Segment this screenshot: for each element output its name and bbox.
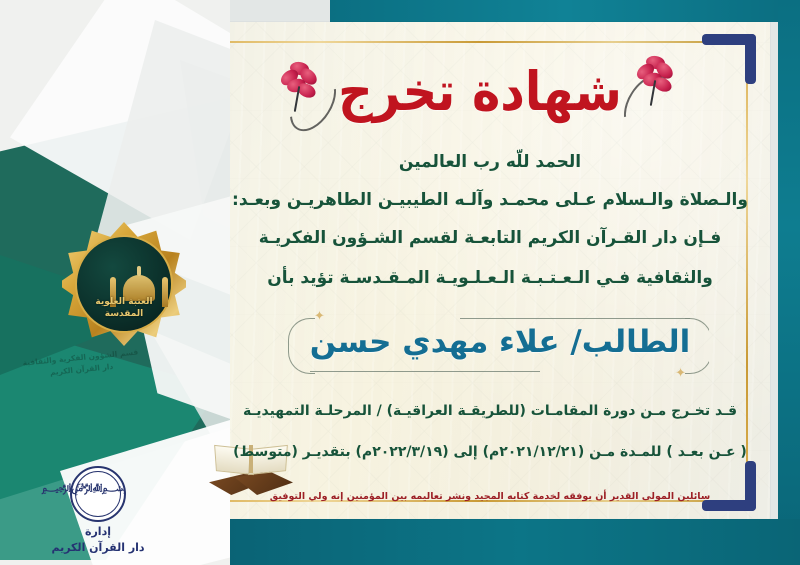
dar-al-quran-seal-icon: ﷽	[70, 466, 126, 522]
orchid-flower-right-icon	[636, 56, 678, 98]
name-frame-star-right-icon: ✦	[675, 367, 686, 380]
seal-glyph: ﷽	[70, 482, 126, 493]
seal-inner-ring	[75, 471, 121, 517]
orchid-flower-left-icon	[280, 62, 322, 104]
bottom-teal-band	[180, 519, 800, 565]
holy-alawi-shrine-emblem-icon: العتبة العلوية المقدسة	[62, 222, 186, 346]
name-frame-rule-bottom	[310, 371, 540, 372]
duration-grade-line: ( عـن بعـد ) للمـدة مـن (٢٠٢١/١٢/٢١م) إل…	[190, 444, 790, 460]
emblem-disc: العتبة العلوية المقدسة	[75, 235, 173, 333]
certificate-title-area: شهادة تخرج	[300, 58, 660, 140]
body-line-praise: الحمد للّه رب العالمين	[190, 152, 790, 172]
corner-bracket-top-right	[702, 34, 756, 84]
course-details-line: قـد تخـرج مـن دورة المقامـات (للطريقـة ا…	[190, 403, 790, 419]
administration-label-line-1: إدارة	[22, 524, 174, 540]
student-name: الطالب/ علاء مهدي حسن	[288, 324, 712, 360]
student-name-frame: ✦ ✦ الطالب/ علاء مهدي حسن	[288, 312, 712, 378]
name-frame-star-left-icon: ✦	[314, 310, 325, 323]
body-line-issuer-1: فـإن دار القـرآن الكريم التابعـة لقسم ال…	[190, 228, 790, 248]
body-line-salutation: والـصلاة والـسلام عـلى محمـد وآلـه الطيب…	[190, 190, 790, 210]
body-line-issuer-2: والثقافية فـي الـعـتـبـة الـعـلـويـة الم…	[190, 268, 790, 288]
certificate-canvas: قسم الشؤون الفكرية والثقافية دار القرآن …	[0, 0, 800, 565]
corner-bracket-bottom-right	[702, 461, 756, 511]
administration-label-line-2: دار القرآن الكريم	[22, 540, 174, 556]
top-teal-band	[330, 0, 800, 22]
gold-rule-top	[188, 41, 718, 43]
name-frame-rule-top	[460, 318, 690, 319]
footer-supplication: سائلين المولى القدير أن يوفقه لخدمة كتاب…	[190, 491, 790, 502]
emblem-calligraphy: العتبة العلوية المقدسة	[77, 297, 171, 320]
administration-label: إدارة دار القرآن الكريم	[22, 524, 174, 556]
page-title: شهادة تخرج	[300, 61, 660, 124]
